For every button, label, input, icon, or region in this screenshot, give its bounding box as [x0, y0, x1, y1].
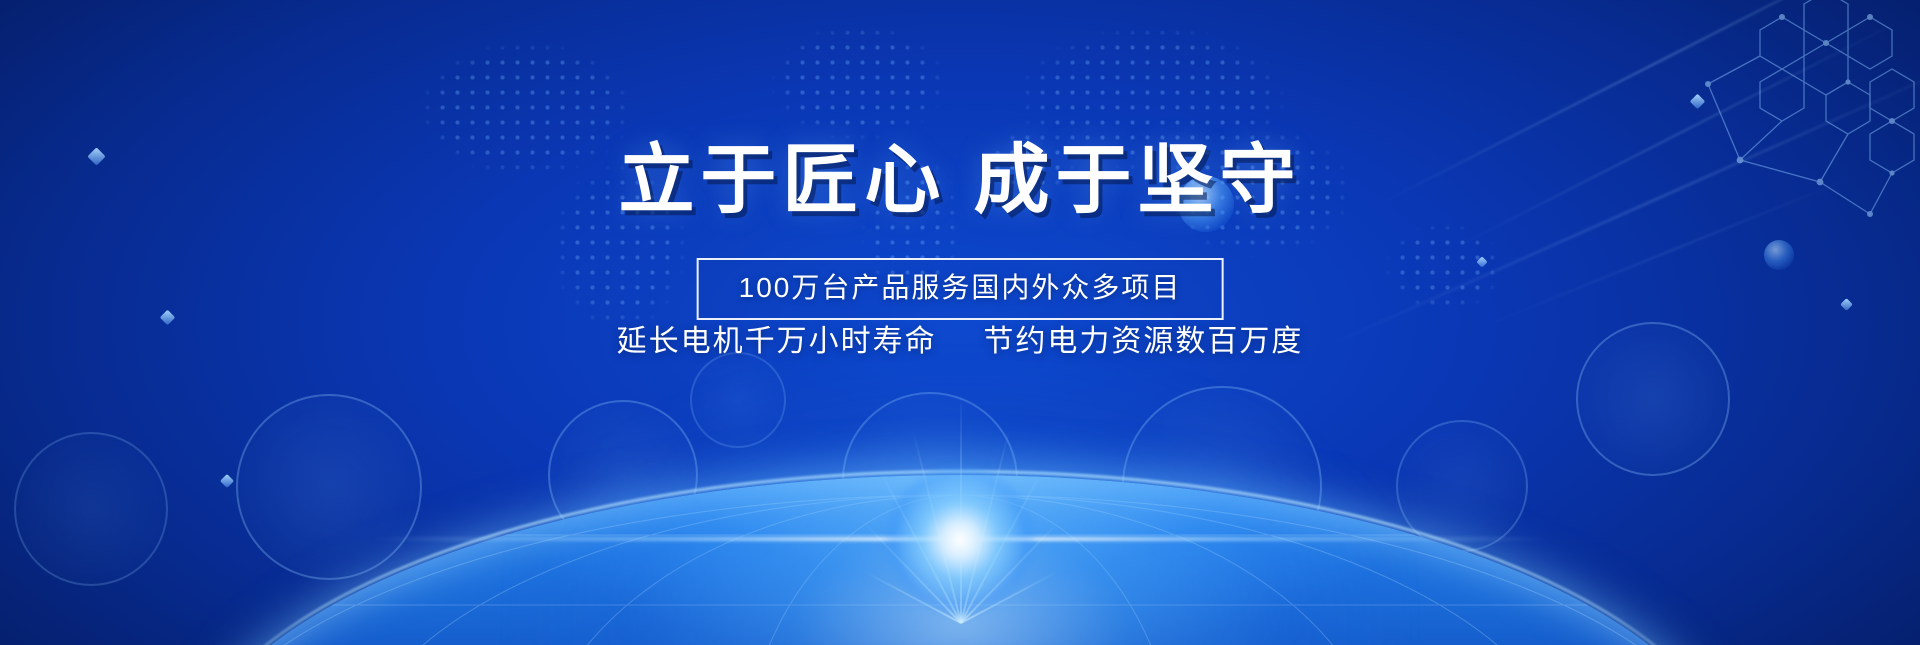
diamond-sparkle-icon: [220, 474, 234, 488]
banner-subline-left: 延长电机千万小时寿命: [617, 325, 937, 358]
hero-banner: 立于匠心 成于坚守 100万台产品服务国内外众多项目 延长电机千万小时寿命 节约…: [0, 0, 1920, 645]
banner-subline-right: 节约电力资源数百万度: [983, 325, 1303, 358]
banner-headline: 立于匠心 成于坚守: [0, 138, 1920, 224]
banner-subline: 延长电机千万小时寿命 节约电力资源数百万度: [0, 322, 1920, 362]
diamond-sparkle-icon: [1840, 298, 1853, 311]
light-burst-core: [885, 465, 1035, 615]
banner-tagline-box: 100万台产品服务国内外众多项目: [697, 258, 1224, 320]
bokeh-circle: [14, 432, 168, 586]
bokeh-circle: [236, 394, 422, 580]
